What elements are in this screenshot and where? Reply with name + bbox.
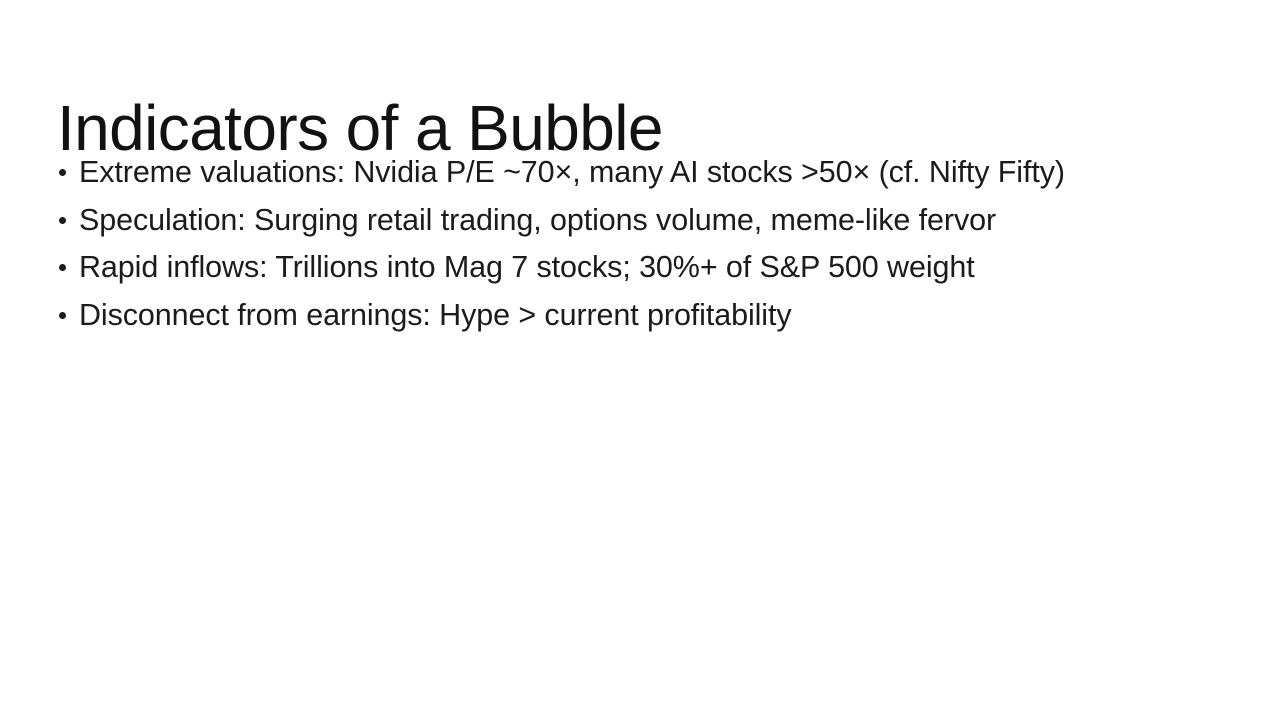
bullet-point-icon xyxy=(59,169,66,176)
bullet-point-icon xyxy=(59,217,66,224)
presentation-slide: Indicators of a Bubble Extreme valuation… xyxy=(0,0,1280,720)
list-item-label: Speculation: Surging retail trading, opt… xyxy=(79,203,996,237)
list-item-label: Disconnect from earnings: Hype > current… xyxy=(79,298,792,332)
list-item: Rapid inflows: Trillions into Mag 7 stoc… xyxy=(57,244,1237,292)
list-item: Disconnect from earnings: Hype > current… xyxy=(57,292,1237,340)
list-item: Speculation: Surging retail trading, opt… xyxy=(57,197,1237,245)
bullet-point-icon xyxy=(59,312,66,319)
list-item: Extreme valuations: Nvidia P/E ~70×, man… xyxy=(57,149,1237,197)
bullet-list: Extreme valuations: Nvidia P/E ~70×, man… xyxy=(57,149,1237,339)
list-item-label: Rapid inflows: Trillions into Mag 7 stoc… xyxy=(79,250,975,284)
bullet-point-icon xyxy=(59,264,66,271)
list-item-label: Extreme valuations: Nvidia P/E ~70×, man… xyxy=(79,155,1065,189)
